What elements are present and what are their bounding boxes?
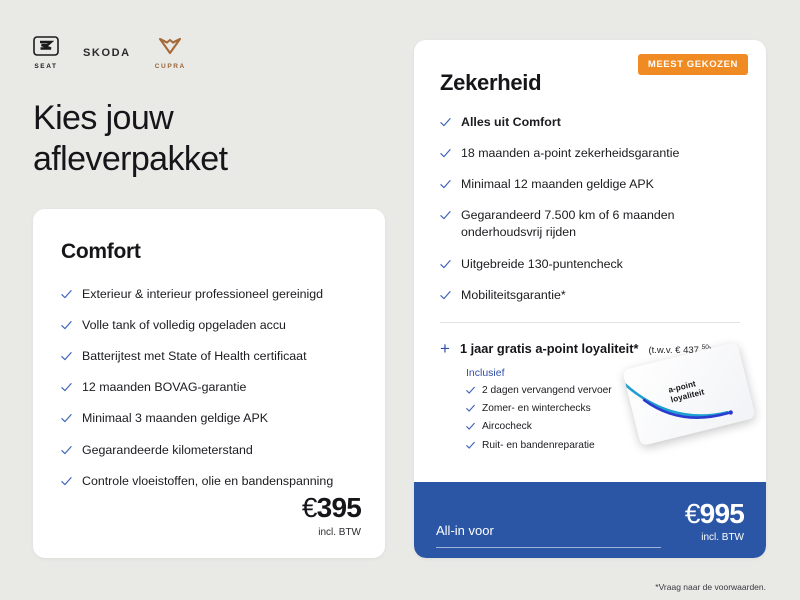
brand-logo-bar: SEAT SKODA CUPRA (33, 36, 186, 70)
list-item: Batterijtest met State of Health certifi… (61, 348, 357, 365)
list-item: Volle tank of volledig opgeladen accu (61, 317, 357, 334)
list-item: Ruit- en bandenreparatie (466, 439, 740, 452)
list-item: 18 maanden a-point zekerheidsgarantie (440, 145, 740, 162)
check-icon (440, 148, 451, 159)
seat-logo-wordmark: SEAT (34, 63, 57, 70)
seat-logo: SEAT (33, 36, 59, 70)
feature-label: Minimaal 12 maanden geldige APK (461, 176, 654, 193)
list-item: Alles uit Comfort (440, 114, 740, 131)
feature-label: Exterieur & interieur professioneel gere… (82, 286, 323, 303)
feature-label: Controle vloeistoffen, olie en bandenspa… (82, 473, 333, 490)
skoda-logo-wordmark: SKODA (83, 47, 131, 59)
comfort-price-block: €395 incl. BTW (302, 494, 361, 538)
divider (436, 547, 661, 548)
cupra-logo: CUPRA (155, 36, 186, 70)
list-item: Exterieur & interieur professioneel gere… (61, 286, 357, 303)
price-value: 995 (700, 498, 744, 529)
package-card-comfort[interactable]: Comfort Exterieur & interieur profession… (33, 209, 385, 558)
feature-label: Mobiliteitsgarantie* (461, 287, 566, 304)
list-item: Gegarandeerde kilometerstand (61, 442, 357, 459)
list-item: Mobiliteitsgarantie* (440, 287, 740, 304)
inclusief-label-item: Zomer- en winterchecks (482, 402, 591, 415)
check-icon (440, 179, 451, 190)
check-icon (440, 210, 451, 221)
comfort-title: Comfort (61, 240, 385, 264)
zekerheid-price: €995 (685, 498, 744, 529)
check-icon (466, 422, 475, 431)
feature-label: 12 maanden BOVAG-garantie (82, 379, 246, 396)
footer-label: All-in voor (436, 523, 494, 543)
zekerheid-feature-list: Alles uit Comfort 18 maanden a-point zek… (440, 114, 740, 304)
seat-logo-icon (33, 36, 59, 61)
inclusief-label-item: 2 dagen vervangend vervoer (482, 384, 612, 397)
comfort-feature-list: Exterieur & interieur professioneel gere… (61, 286, 357, 490)
check-icon (466, 441, 475, 450)
loyalty-title: 1 jaar gratis a-point loyaliteit* (460, 341, 639, 356)
currency-symbol: € (685, 498, 700, 529)
feature-label: Gegarandeerd 7.500 km of 6 maanden onder… (461, 207, 740, 241)
promo-page: SEAT SKODA CUPRA Kies jouw afleverpakket… (0, 0, 800, 600)
feature-label: Uitgebreide 130-puntencheck (461, 256, 623, 273)
check-icon (61, 382, 72, 393)
comfort-price-vat: incl. BTW (302, 527, 361, 538)
check-icon (61, 413, 72, 424)
list-item: Uitgebreide 130-puntencheck (440, 256, 740, 273)
inclusief-label-item: Ruit- en bandenreparatie (482, 439, 595, 452)
check-icon (440, 290, 451, 301)
check-icon (440, 259, 451, 270)
cupra-logo-wordmark: CUPRA (155, 63, 186, 70)
check-icon (61, 476, 72, 487)
list-item: Minimaal 12 maanden geldige APK (440, 176, 740, 193)
check-icon (61, 445, 72, 456)
list-item: Gegarandeerd 7.500 km of 6 maanden onder… (440, 207, 740, 241)
check-icon (61, 289, 72, 300)
feature-label: Batterijtest met State of Health certifi… (82, 348, 307, 365)
page-title: Kies jouw afleverpakket (33, 98, 363, 181)
package-card-zekerheid[interactable]: MEEST GEKOZEN Zekerheid Alles uit Comfor… (414, 40, 766, 558)
feature-label: Alles uit Comfort (461, 114, 561, 131)
cupra-logo-icon (157, 36, 183, 61)
zekerheid-price-vat: incl. BTW (685, 532, 744, 543)
comfort-price: €395 (302, 494, 361, 522)
plus-icon: + (440, 340, 450, 357)
zekerheid-price-block: €995 incl. BTW (685, 500, 744, 543)
list-item: Minimaal 3 maanden geldige APK (61, 410, 357, 427)
list-item: 12 maanden BOVAG-garantie (61, 379, 357, 396)
feature-label: Gegarandeerde kilometerstand (82, 442, 253, 459)
inclusief-block: Inclusief 2 dagen vervangend vervoer Zom… (466, 367, 740, 452)
check-icon (61, 320, 72, 331)
feature-label: 18 maanden a-point zekerheidsgarantie (461, 145, 679, 162)
check-icon (61, 351, 72, 362)
zekerheid-price-footer: All-in voor €995 incl. BTW (414, 482, 766, 558)
currency-symbol: € (302, 492, 317, 523)
feature-label: Volle tank of volledig opgeladen accu (82, 317, 286, 334)
feature-label: Minimaal 3 maanden geldige APK (82, 410, 268, 427)
list-item: Controle vloeistoffen, olie en bandenspa… (61, 473, 357, 490)
divider (440, 322, 740, 323)
check-icon (440, 117, 451, 128)
check-icon (466, 404, 475, 413)
price-value: 395 (317, 492, 361, 523)
footnote: *Vraag naar de voorwaarden. (655, 582, 766, 592)
status-badge: MEEST GEKOZEN (638, 54, 748, 75)
skoda-logo: SKODA (83, 47, 131, 59)
check-icon (466, 386, 475, 395)
inclusief-label-item: Aircocheck (482, 420, 532, 433)
